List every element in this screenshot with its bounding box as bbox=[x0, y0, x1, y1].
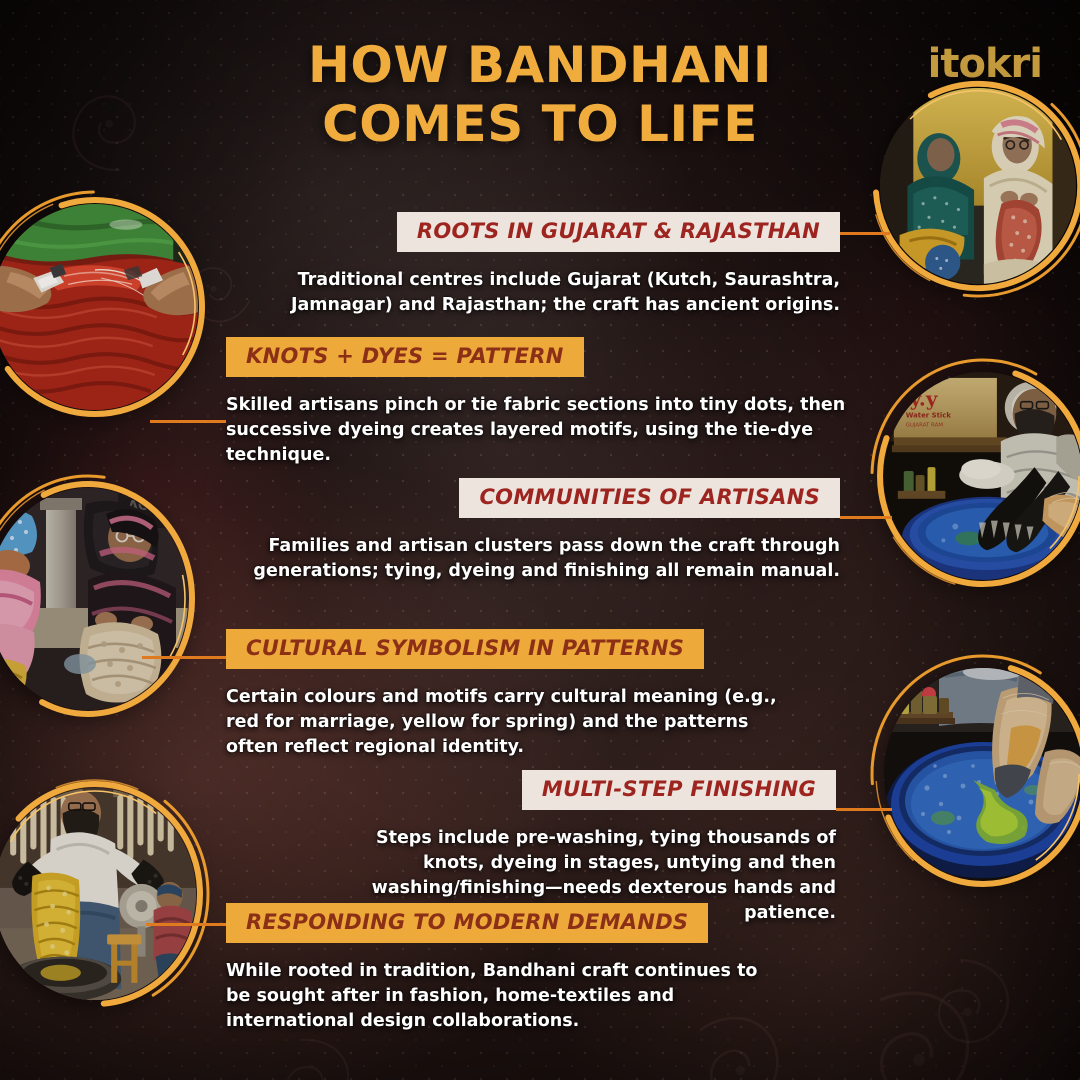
infographic-poster: itokri HOW BANDHANI COMES TO LIFE bbox=[0, 0, 1080, 1080]
connector-line-communities bbox=[840, 516, 892, 519]
section-modern: RESPONDING TO MODERN DEMANDS While roote… bbox=[226, 903, 846, 1034]
section-communities-heading: COMMUNITIES OF ARTISANS bbox=[459, 478, 840, 518]
section-finishing-heading: MULTI-STEP FINISHING bbox=[522, 770, 836, 810]
section-symbolism-body: Certain colours and motifs carry cultura… bbox=[226, 685, 786, 760]
photo-hands-red-fabric-image bbox=[0, 204, 198, 410]
connector-line-modern bbox=[146, 923, 226, 926]
section-communities: COMMUNITIES OF ARTISANS Families and art… bbox=[200, 478, 840, 584]
photo-indigo-vat-image bbox=[884, 668, 1080, 880]
photo-hands-red-fabric bbox=[0, 204, 198, 410]
connector-line-finishing bbox=[836, 808, 892, 811]
section-modern-heading: RESPONDING TO MODERN DEMANDS bbox=[226, 903, 708, 943]
photo-artisan-dyeing-blue-tub-image: y.y Water Stick GUJARAT RAM bbox=[884, 372, 1080, 580]
section-symbolism-heading: CULTURAL SYMBOLISM IN PATTERNS bbox=[226, 629, 704, 669]
page-title: HOW BANDHANI COMES TO LIFE bbox=[0, 36, 1080, 154]
section-roots-body: Traditional centres include Gujarat (Kut… bbox=[200, 268, 840, 318]
section-symbolism: CULTURAL SYMBOLISM IN PATTERNS Certain c… bbox=[226, 629, 846, 760]
section-knots-body: Skilled artisans pinch or tie fabric sec… bbox=[226, 393, 846, 468]
section-roots: ROOTS IN GUJARAT & RAJASTHAN Traditional… bbox=[200, 212, 840, 318]
section-roots-heading: ROOTS IN GUJARAT & RAJASTHAN bbox=[397, 212, 840, 252]
page-title-line-2: COMES TO LIFE bbox=[150, 95, 930, 154]
section-knots-heading: KNOTS + DYES = PATTERN bbox=[226, 337, 584, 377]
connector-line-knots bbox=[150, 420, 226, 423]
section-modern-body: While rooted in tradition, Bandhani craf… bbox=[226, 959, 778, 1034]
photo-women-cream-fabric: ACD bbox=[0, 488, 188, 710]
photo-indigo-vat bbox=[884, 668, 1080, 880]
photo-artisan-dyeing-blue-tub: y.y Water Stick GUJARAT RAM bbox=[884, 372, 1080, 580]
photo-women-cream-fabric-image: ACD bbox=[0, 488, 188, 710]
section-communities-body: Families and artisan clusters pass down … bbox=[200, 534, 840, 584]
connector-line-symbolism bbox=[142, 656, 226, 659]
page-title-line-1: HOW BANDHANI bbox=[150, 36, 930, 95]
photo-lifting-yellow-cloth-image bbox=[0, 788, 196, 1000]
photo-lifting-yellow-cloth bbox=[0, 788, 196, 1000]
section-knots: KNOTS + DYES = PATTERN Skilled artisans … bbox=[226, 337, 846, 468]
connector-line-roots bbox=[838, 232, 890, 235]
